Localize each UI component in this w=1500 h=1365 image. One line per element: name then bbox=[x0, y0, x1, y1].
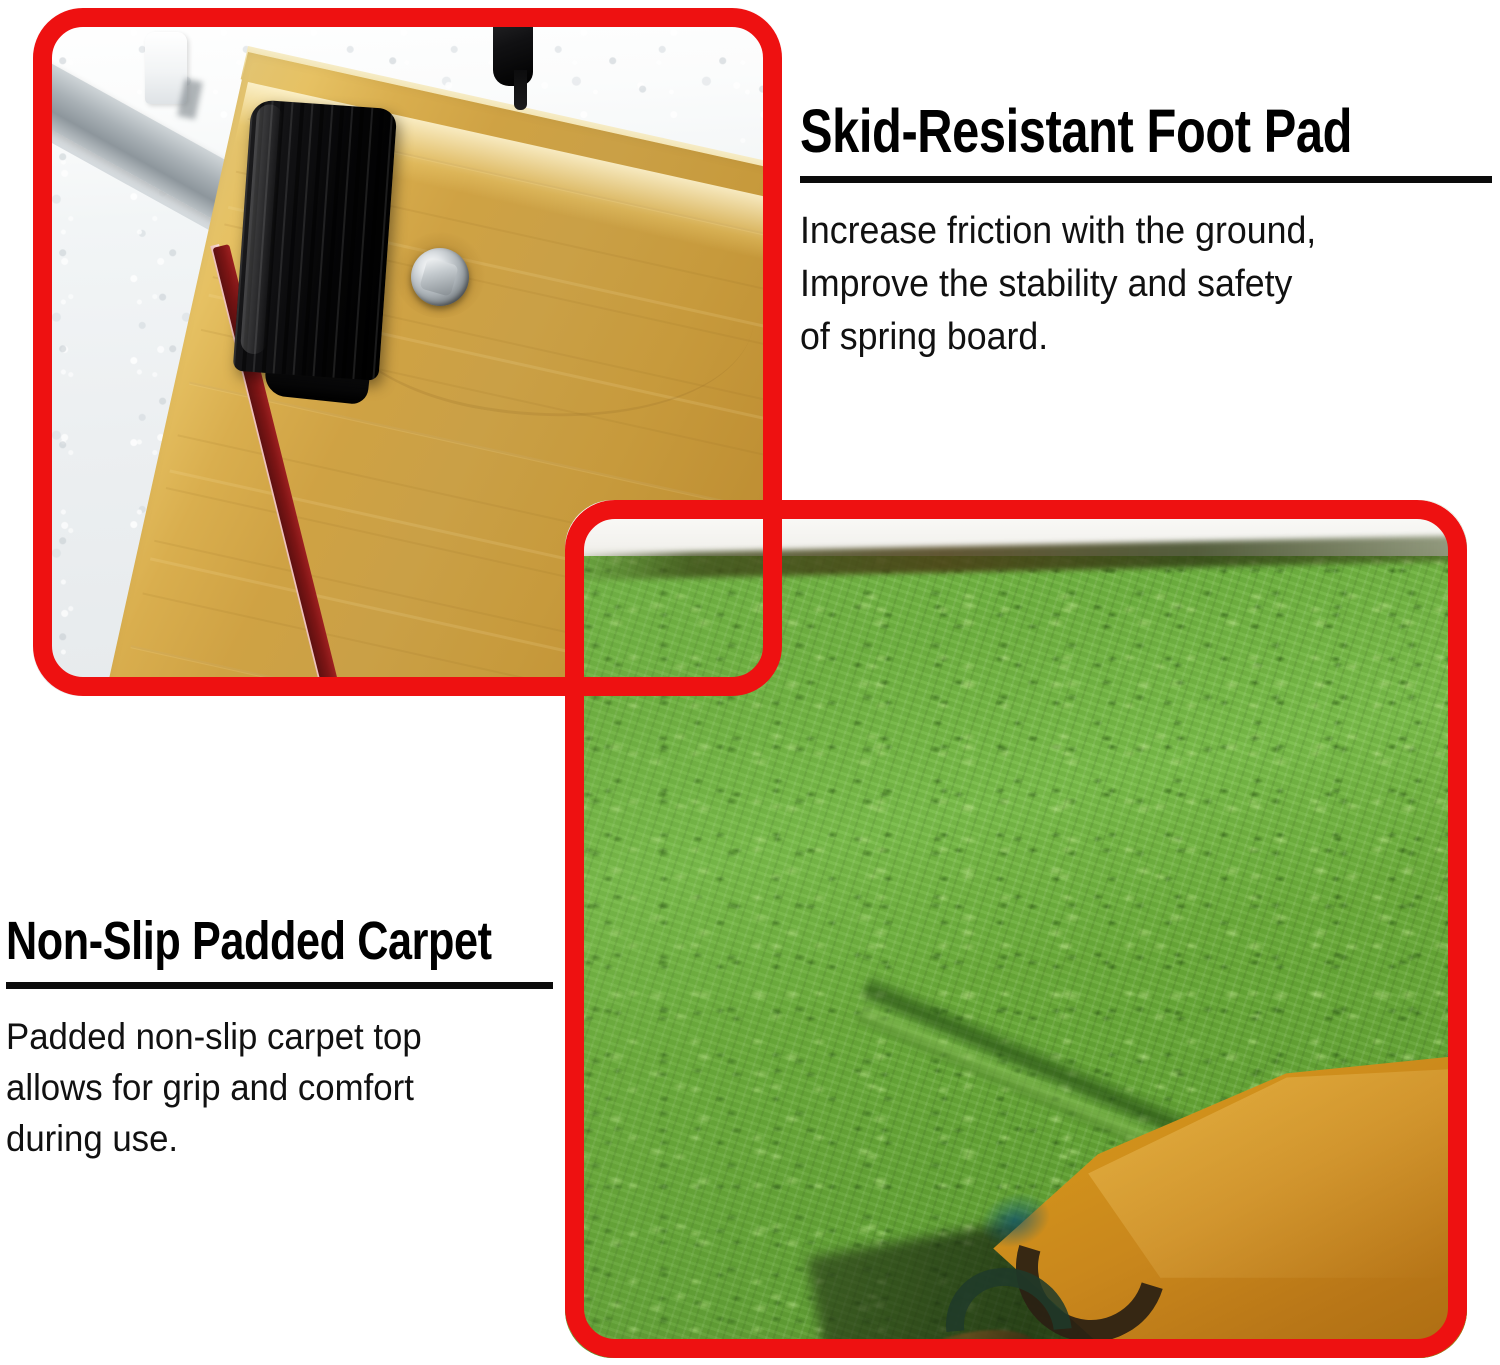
feature-divider-foot-pad bbox=[800, 176, 1492, 183]
green-carpet-surface bbox=[565, 556, 1467, 1358]
feature-description-line: Increase friction with the ground, bbox=[800, 205, 1458, 258]
infographic-canvas: Skid-Resistant Foot Pad Increase frictio… bbox=[0, 0, 1500, 1365]
feature-description-carpet: Padded non-slip carpet top allows for gr… bbox=[6, 1011, 523, 1164]
mounting-bolt bbox=[411, 248, 469, 306]
feature-block-foot-pad: Skid-Resistant Foot Pad Increase frictio… bbox=[800, 98, 1500, 364]
bolt-head bbox=[419, 257, 459, 297]
feature-title-foot-pad: Skid-Resistant Foot Pad bbox=[800, 98, 1360, 164]
feature-divider-carpet bbox=[6, 982, 553, 989]
feature-description-line: Padded non-slip carpet top bbox=[6, 1011, 523, 1062]
feature-description-line: of spring board. bbox=[800, 311, 1458, 364]
carpet-photo bbox=[565, 500, 1467, 1358]
feature-block-carpet: Non-Slip Padded Carpet Padded non-slip c… bbox=[6, 912, 556, 1164]
dark-fixture bbox=[493, 8, 533, 86]
feature-title-carpet: Non-Slip Padded Carpet bbox=[6, 912, 446, 970]
feature-description-line: during use. bbox=[6, 1113, 523, 1164]
feature-description-line: Improve the stability and safety bbox=[800, 258, 1458, 311]
dark-fixture-stem bbox=[514, 70, 527, 110]
skid-resistant-foot-pad bbox=[233, 99, 398, 381]
feature-description-foot-pad: Increase friction with the ground, Impro… bbox=[800, 205, 1458, 364]
white-clip bbox=[145, 32, 187, 104]
feature-description-line: allows for grip and comfort bbox=[6, 1062, 523, 1113]
